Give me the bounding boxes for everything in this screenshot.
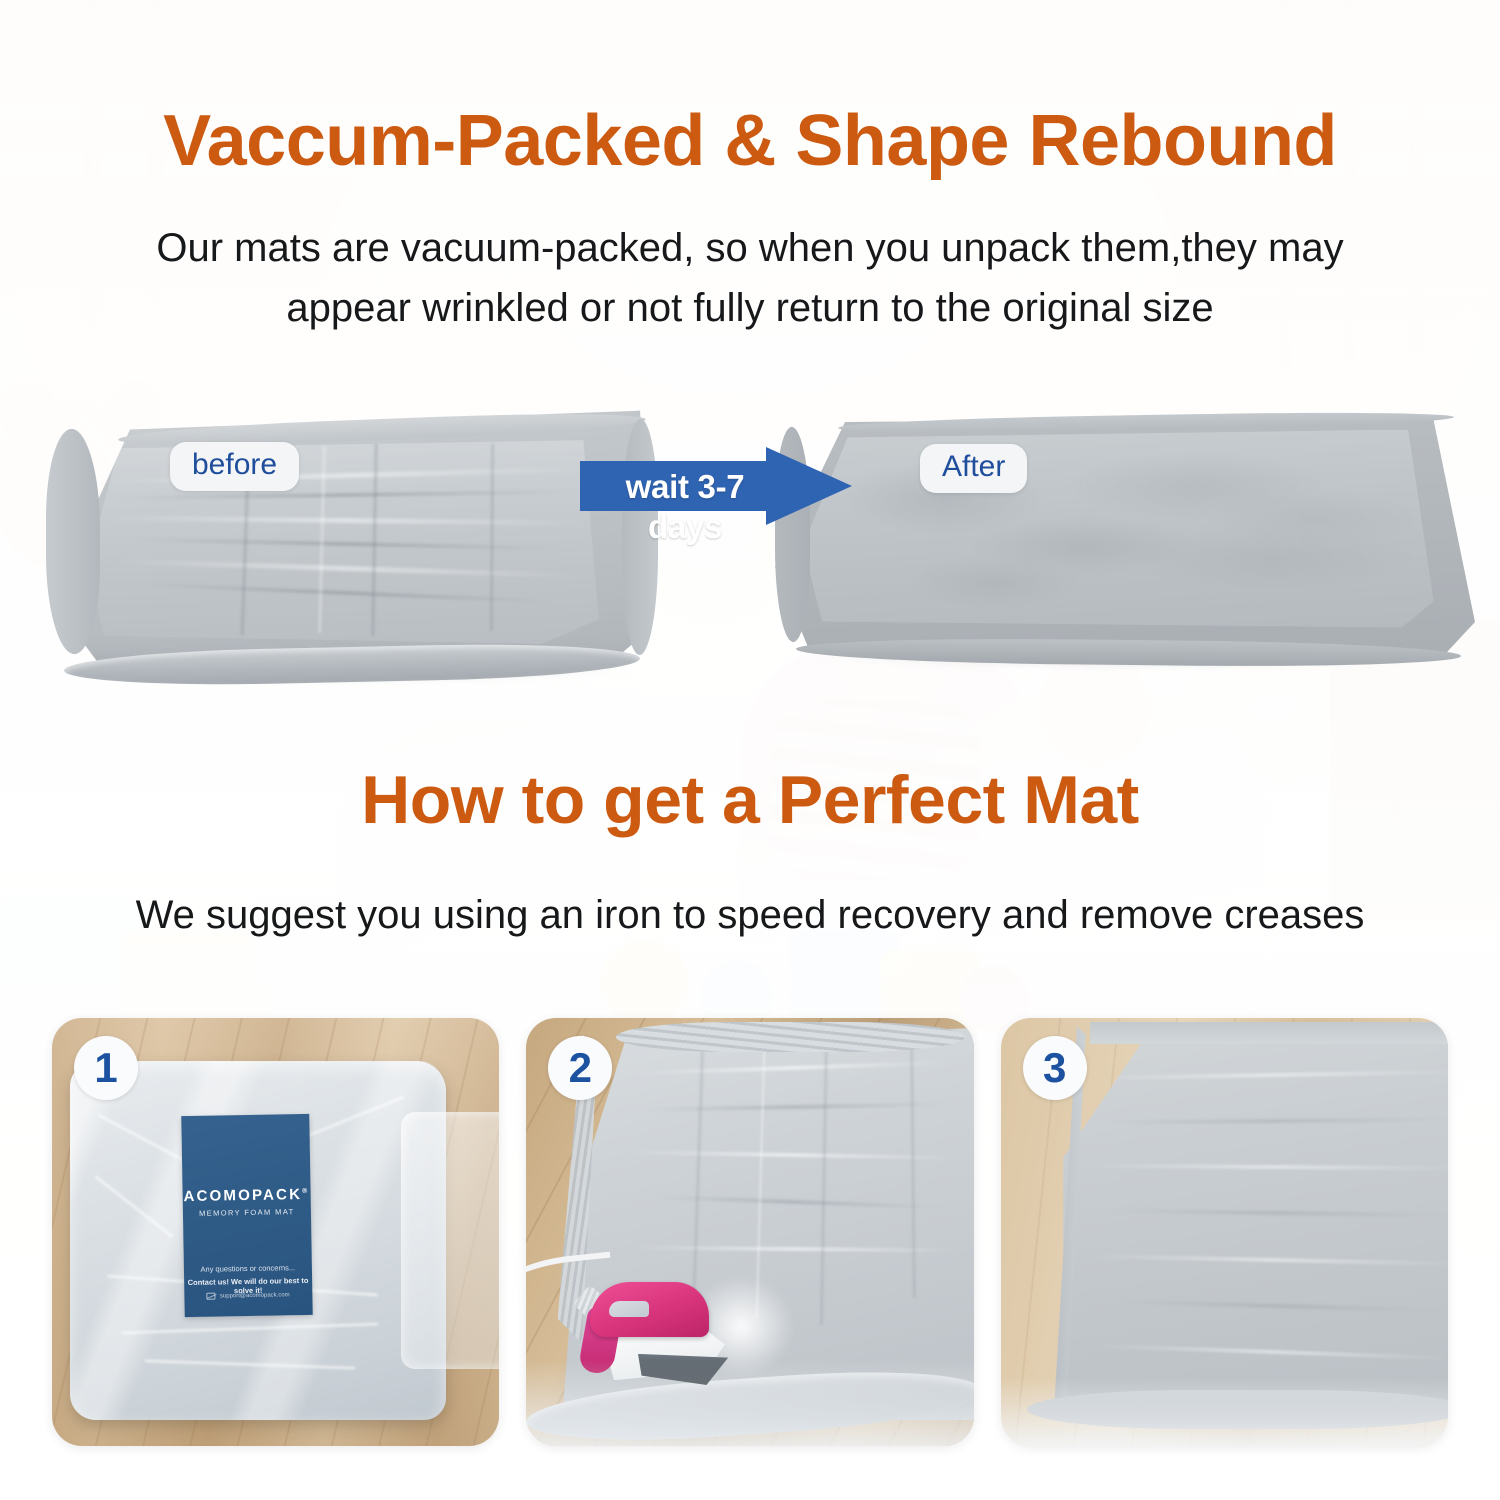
brand-name: ACOMOPACK® [182, 1186, 310, 1205]
mat-border-band-top [1090, 1022, 1448, 1043]
panel-bottom-fade [1001, 1378, 1448, 1446]
product-name: MEMORY FOAM MAT [182, 1206, 310, 1217]
section1-subtitle-line1: Our mats are vacuum-packed, so when you … [110, 218, 1390, 278]
mat-texture-highlight [1084, 1164, 1448, 1171]
mat-after-texture [803, 430, 1440, 630]
steps-gallery: ACOMOPACK® MEMORY FOAM MAT Any questions… [52, 1018, 1448, 1446]
mat-ruffled-edge-top [616, 1022, 965, 1052]
package-label-card: ACOMOPACK® MEMORY FOAM MAT Any questions… [181, 1114, 312, 1318]
wrinkle-shadow [643, 1103, 947, 1112]
fold-crease [819, 1034, 828, 1325]
mat-texture-shadow [1105, 1209, 1448, 1218]
arrow-head-icon [766, 447, 852, 525]
label-email: support@acomopack.com [219, 1292, 289, 1299]
fold-crease [910, 1038, 917, 1298]
wrinkle-highlight [625, 1150, 956, 1160]
step-panel-1: ACOMOPACK® MEMORY FOAM MAT Any questions… [52, 1018, 499, 1446]
mat-texture-highlight [1088, 1254, 1447, 1266]
mat-before-edge-left [46, 425, 100, 660]
before-label-pill: before [170, 442, 299, 491]
section2-subtitle: We suggest you using an iron to speed re… [0, 885, 1500, 945]
step-panel-3: 3 [1001, 1018, 1448, 1446]
mat-texture-highlight [1088, 1070, 1447, 1080]
mat-texture-shadow [1097, 1117, 1448, 1124]
after-label-pill: After [920, 444, 1027, 493]
wrinkle-highlight [634, 1246, 956, 1253]
mat-texture-highlight [1097, 1344, 1448, 1360]
mat-texture-shadow [1114, 1299, 1442, 1312]
arrow-label: wait 3-7 days [592, 467, 778, 547]
mat-after-inner-face [803, 430, 1440, 630]
section1-subtitle: Our mats are vacuum-packed, so when you … [0, 218, 1500, 338]
fold-crease [490, 444, 495, 631]
section1-subtitle-line2: appear wrinkled or not fully return to t… [110, 278, 1390, 338]
section2-title: How to get a Perfect Mat [0, 765, 1500, 836]
iron-handle [590, 1282, 709, 1337]
wrinkle-highlight [634, 1060, 947, 1075]
wrinkle-shadow [119, 490, 573, 500]
step-badge-2: 2 [548, 1036, 612, 1100]
wait-arrow-banner: wait 3-7 days [580, 447, 852, 525]
step-badge-1: 1 [74, 1036, 138, 1100]
step-badge-3: 3 [1023, 1036, 1087, 1100]
brand-text: ACOMOPACK [183, 1186, 302, 1205]
step-panel-2: 2 [526, 1018, 973, 1446]
trademark-symbol: ® [302, 1188, 309, 1195]
finished-flat-mat [1063, 1027, 1448, 1412]
mat-before-inner-face [88, 440, 604, 644]
wrinkle-shadow [129, 537, 562, 550]
panel-bottom-fade [526, 1360, 973, 1446]
wrinkle-highlight [103, 515, 588, 525]
label-question-line: Any questions or concerns... [183, 1263, 311, 1274]
page-title-vacuum-packed: Vaccum-Packed & Shape Rebound [0, 104, 1500, 180]
mat-after-image [775, 412, 1475, 662]
label-email-row: support@acomopack.com [184, 1291, 312, 1300]
loose-plastic-wrap [401, 1112, 499, 1369]
iron-handle-gap [609, 1301, 650, 1318]
mat-before-body [52, 408, 652, 676]
mat-after-body [775, 412, 1475, 662]
fold-crease [370, 440, 378, 636]
email-icon [206, 1292, 215, 1299]
mat-before-image [52, 408, 652, 676]
vacuum-packed-bag: ACOMOPACK® MEMORY FOAM MAT Any questions… [70, 1061, 446, 1421]
wrinkle-highlight [114, 559, 578, 579]
